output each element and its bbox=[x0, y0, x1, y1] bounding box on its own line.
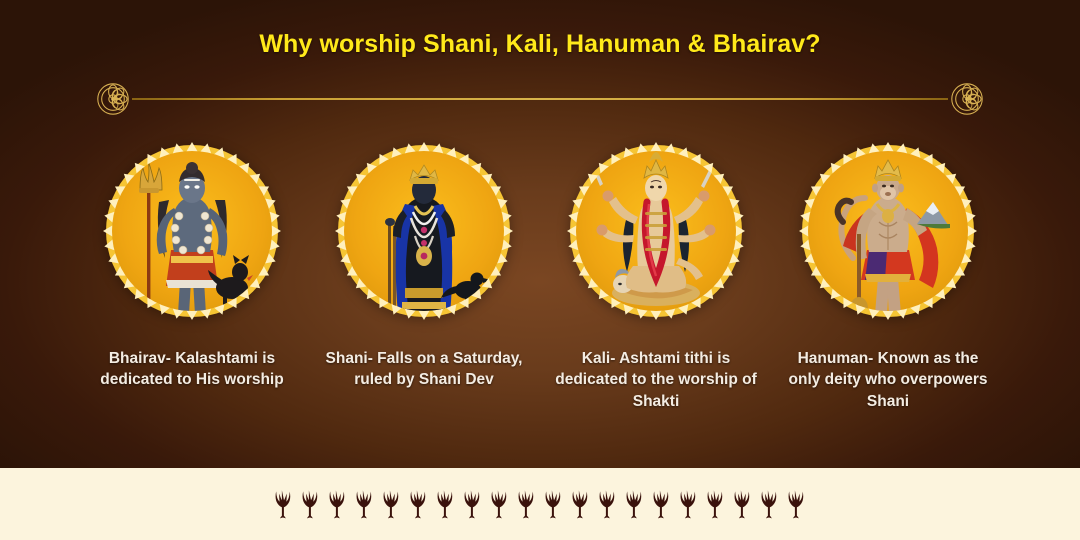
trident-icon bbox=[760, 489, 780, 519]
trident-icon bbox=[652, 489, 672, 519]
medallion-kali bbox=[563, 138, 749, 324]
deity-caption: Bhairav- Kalashtami is dedicated to His … bbox=[85, 348, 300, 391]
medallion-bhairav bbox=[99, 138, 285, 324]
trident-icon bbox=[328, 489, 348, 519]
trident-icon bbox=[409, 489, 429, 519]
trident-icon bbox=[517, 489, 537, 519]
bhairav-portrait-icon bbox=[99, 138, 285, 324]
trident-icon bbox=[679, 489, 699, 519]
trident-icon bbox=[544, 489, 564, 519]
page-title: Why worship Shani, Kali, Hanuman & Bhair… bbox=[0, 30, 1080, 59]
shani-portrait-icon bbox=[331, 138, 517, 324]
trident-icon bbox=[625, 489, 645, 519]
deity-caption: Kali- Ashtami tithi is dedicated to the … bbox=[549, 348, 764, 412]
deity-card-row: Bhairav- Kalashtami is dedicated to His … bbox=[0, 138, 1080, 438]
medallion-hanuman bbox=[795, 138, 981, 324]
deity-card-bhairav[interactable]: Bhairav- Kalashtami is dedicated to His … bbox=[99, 138, 285, 391]
kali-portrait-icon bbox=[563, 138, 749, 324]
trident-icon bbox=[733, 489, 753, 519]
deity-caption: Hanuman- Known as the only deity who ove… bbox=[781, 348, 996, 412]
hanuman-portrait-icon bbox=[795, 138, 981, 324]
trident-icon bbox=[463, 489, 483, 519]
trident-icon bbox=[706, 489, 726, 519]
trident-icon bbox=[787, 489, 807, 519]
medallion-shani bbox=[331, 138, 517, 324]
deity-caption: Shani- Falls on a Saturday, ruled by Sha… bbox=[317, 348, 532, 391]
trident-row bbox=[274, 489, 807, 519]
trident-icon bbox=[598, 489, 618, 519]
trident-icon bbox=[274, 489, 294, 519]
bottom-trident-strip bbox=[0, 468, 1080, 540]
mandala-rosette-icon bbox=[96, 82, 130, 116]
trident-icon bbox=[436, 489, 456, 519]
trident-icon bbox=[490, 489, 510, 519]
deity-card-kali[interactable]: Kali- Ashtami tithi is dedicated to the … bbox=[563, 138, 749, 412]
trident-icon bbox=[355, 489, 375, 519]
poster-canvas: Why worship Shani, Kali, Hanuman & Bhair… bbox=[0, 0, 1080, 540]
divider-line bbox=[132, 98, 948, 100]
trident-icon bbox=[382, 489, 402, 519]
mandala-rosette-icon bbox=[950, 82, 984, 116]
deity-card-hanuman[interactable]: Hanuman- Known as the only deity who ove… bbox=[795, 138, 981, 412]
trident-icon bbox=[571, 489, 591, 519]
trident-icon bbox=[301, 489, 321, 519]
deity-card-shani[interactable]: Shani- Falls on a Saturday, ruled by Sha… bbox=[331, 138, 517, 391]
decorative-divider bbox=[96, 82, 984, 116]
